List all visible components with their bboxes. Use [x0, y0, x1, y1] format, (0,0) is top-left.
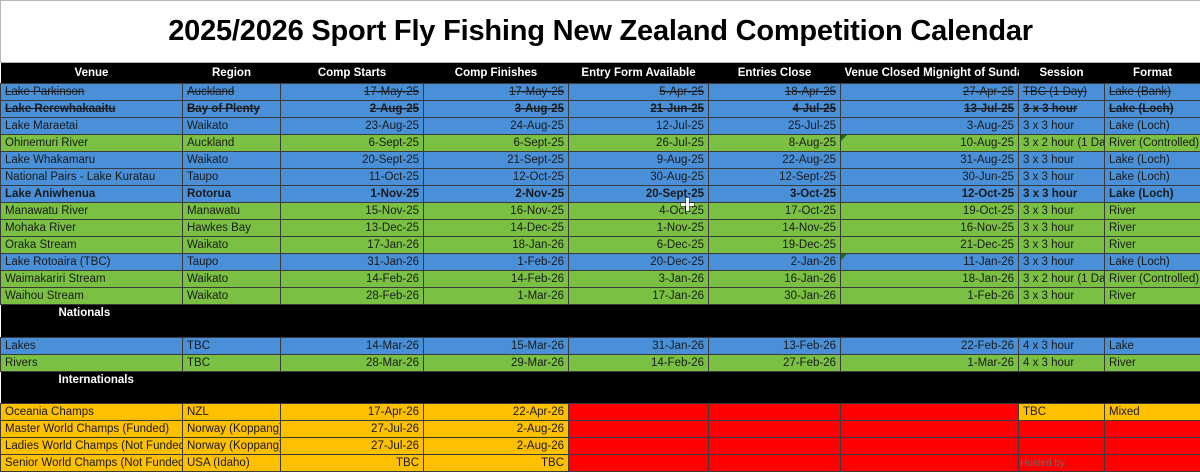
cell-text: 25-Jul-25	[788, 120, 836, 132]
table-cell[interactable]: Norway (Koppang)	[183, 421, 281, 438]
table-row[interactable]: Lake Rotoaira (TBC)Taupo31-Jan-261-Feb-2…	[1, 254, 1200, 271]
table-cell[interactable]: Lake Rotoaira (TBC)	[1, 254, 183, 271]
table-cell[interactable]	[1105, 421, 1200, 438]
table-cell[interactable]: 17-Apr-26	[281, 404, 424, 421]
table-cell[interactable]: 16-Nov-25	[424, 203, 569, 220]
table-cell[interactable]: 14-Dec-25	[424, 220, 569, 237]
cell-text: TBC	[1023, 406, 1046, 418]
table-cell[interactable]: 2-Aug-26	[424, 421, 569, 438]
table-cell[interactable]	[709, 404, 841, 421]
table-cell[interactable]: Waikato	[183, 271, 281, 288]
column-header[interactable]: Entry Form Available	[569, 63, 709, 84]
spacer-row	[1, 388, 1200, 404]
table-cell[interactable]: 19-Oct-25	[841, 203, 1019, 220]
cell-text: 3 x 3 hour	[1023, 256, 1074, 268]
cell-text: Rivers	[5, 357, 38, 369]
cell-text: Lake Aniwhenua	[5, 188, 95, 200]
cell-text: 3 x 2 hour (1 Day)	[1023, 273, 1105, 285]
cell-text: 30-Jan-26	[784, 290, 836, 302]
cell-text: TBC	[396, 457, 419, 469]
cell-text: Waihou Stream	[5, 290, 84, 302]
table-cell[interactable]: 1-Nov-25	[281, 186, 424, 203]
cell-note-indicator-icon	[841, 254, 847, 260]
table-row[interactable]: Waimakariri StreamWaikato14-Feb-2614-Feb…	[1, 271, 1200, 288]
table-cell[interactable]: 18-Jan-26	[424, 237, 569, 254]
table-cell[interactable]: 3 x 3 hour	[1019, 237, 1105, 254]
table-cell[interactable]: 31-Jan-26	[569, 337, 709, 354]
table-cell[interactable]: 23-Aug-25	[281, 118, 424, 135]
table-cell[interactable]: 28-Mar-26	[281, 354, 424, 371]
table-cell[interactable]	[709, 455, 841, 472]
table-cell[interactable]: 21-Dec-25	[841, 237, 1019, 254]
table-cell[interactable]: 22-Feb-26	[841, 337, 1019, 354]
cell-text: Mixed	[1109, 406, 1140, 418]
table-cell[interactable]	[569, 404, 709, 421]
cell-text: Lake Parkinson	[5, 86, 84, 98]
table-cell[interactable]: 17-May-25	[281, 84, 424, 101]
cell-text: 3 x 3 hour	[1023, 154, 1074, 166]
table-cell[interactable]: 2-Aug-26	[424, 438, 569, 455]
cell-text: 31-Aug-25	[960, 154, 1014, 166]
table-cell[interactable]: River (Controlled)	[1105, 135, 1200, 152]
cell-text: 3-Jan-26	[659, 273, 704, 285]
table-cell[interactable]: Lake (Loch)	[1105, 152, 1200, 169]
table-cell[interactable]: TBC	[424, 455, 569, 472]
column-header[interactable]: Venue Closed Mignight of Sunday	[841, 63, 1019, 84]
cell-text: 2-Nov-25	[515, 188, 564, 200]
table-cell[interactable]: Master World Champs (Funded)	[1, 421, 183, 438]
spreadsheet-canvas: 2025/2026 Sport Fly Fishing New Zealand …	[0, 0, 1200, 464]
cell-text: Waikato	[187, 239, 228, 251]
table-cell[interactable]: 3 x 3 hour	[1019, 101, 1105, 118]
table-cell[interactable]: 1-Mar-26	[424, 288, 569, 305]
table-cell[interactable]: 27-Feb-26	[709, 354, 841, 371]
table-cell[interactable]: 11-Jan-26	[841, 254, 1019, 271]
table-cell[interactable]	[569, 455, 709, 472]
table-cell[interactable]: 3-Aug-25	[841, 118, 1019, 135]
cell-text: River	[1109, 222, 1136, 234]
spacer-row	[1, 321, 1200, 337]
cell-text: Manawatu River	[5, 205, 88, 217]
table-cell[interactable]: 3 x 3 hour	[1019, 152, 1105, 169]
table-cell[interactable]: Mohaka River	[1, 220, 183, 237]
page-title: 2025/2026 Sport Fly Fishing New Zealand …	[1, 1, 1200, 63]
table-cell[interactable]: TBC (1 Day)	[1019, 84, 1105, 101]
table-cell[interactable]	[841, 421, 1019, 438]
table-row[interactable]: Master World Champs (Funded)Norway (Kopp…	[1, 421, 1200, 438]
table-cell[interactable]: 16-Jan-26	[709, 271, 841, 288]
table-cell[interactable]: 26-Jul-25	[569, 135, 709, 152]
table-cell[interactable]: 14-Nov-25	[709, 220, 841, 237]
table-cell[interactable]: 27-Apr-25	[841, 84, 1019, 101]
table-row[interactable]: Lake WhakamaruWaikato20-Sept-2521-Sept-2…	[1, 152, 1200, 169]
table-cell[interactable]: 17-May-25	[424, 84, 569, 101]
cell-text: 3 x 3 hour	[1023, 120, 1074, 132]
table-cell[interactable]	[841, 404, 1019, 421]
table-cell[interactable]: River	[1105, 237, 1200, 254]
table-cell[interactable]: 14-Feb-26	[569, 354, 709, 371]
cell-text: 17-Jan-26	[652, 290, 704, 302]
table-cell[interactable]: TBC	[281, 455, 424, 472]
table-cell[interactable]: 1-Feb-26	[424, 254, 569, 271]
cell-text: 20-Sept-25	[362, 154, 419, 166]
table-cell[interactable]	[841, 455, 1019, 472]
table-cell[interactable]: 14-Feb-26	[281, 271, 424, 288]
table-cell[interactable]: 31-Jan-26	[281, 254, 424, 271]
table-row[interactable]: Lake RerewhakaaituBay of Plenty2-Aug-253…	[1, 101, 1200, 118]
table-cell[interactable]: River	[1105, 203, 1200, 220]
table-cell[interactable]: Manawatu	[183, 203, 281, 220]
table-cell[interactable]: 20-Sept-25	[569, 186, 709, 203]
table-cell[interactable]: 27-Jul-26	[281, 421, 424, 438]
cell-text: 9-Aug-25	[657, 154, 704, 166]
table-cell[interactable]: 20-Dec-25	[569, 254, 709, 271]
table-cell[interactable]: Waikato	[183, 288, 281, 305]
table-cell[interactable]: 3 x 3 hour	[1019, 169, 1105, 186]
cell-text: River	[1109, 290, 1136, 302]
cell-text: Norway (Koppang)	[187, 440, 281, 452]
table-cell[interactable]: 31-Aug-25	[841, 152, 1019, 169]
column-header[interactable]: Region	[183, 63, 281, 84]
table-cell[interactable]: 3 x 2 hour (1 Day)	[1019, 271, 1105, 288]
cell-text: River (Controlled)	[1109, 273, 1199, 285]
cell-text: Lake (Loch)	[1109, 188, 1174, 200]
cell-text: 6-Sept-25	[368, 137, 419, 149]
table-cell[interactable]: 19-Dec-25	[709, 237, 841, 254]
cell-text: 19-Dec-25	[782, 239, 836, 251]
table-cell[interactable]: 3 x 3 hour	[1019, 288, 1105, 305]
table-cell[interactable]: 2-Nov-25	[424, 186, 569, 203]
table-cell[interactable]: 6-Dec-25	[569, 237, 709, 254]
cell-text: 3 x 3 hour	[1023, 222, 1074, 234]
table-cell[interactable]: 12-Jul-25	[569, 118, 709, 135]
cell-text: Ladies World Champs (Not Funded)	[5, 440, 183, 452]
cell-text: 1-Mar-26	[517, 290, 564, 302]
table-cell[interactable]: 6-Sept-25	[281, 135, 424, 152]
table-cell[interactable]: Lake Whakamaru	[1, 152, 183, 169]
cell-text: Auckland	[187, 137, 234, 149]
cell-text: Auckland	[187, 86, 234, 98]
column-header[interactable]: Entries Close	[709, 63, 841, 84]
table-cell[interactable]: 17-Jan-26	[569, 288, 709, 305]
table-cell[interactable]	[1105, 438, 1200, 455]
table-cell[interactable]: Lakes	[1, 337, 183, 354]
table-cell[interactable]: 13-Jul-25	[841, 101, 1019, 118]
table-cell[interactable]: 29-Mar-26	[424, 354, 569, 371]
cell-text: Lake Rotoaira (TBC)	[5, 256, 110, 268]
column-header[interactable]: Venue	[1, 63, 183, 84]
cell-text: 17-Jan-26	[367, 239, 419, 251]
table-row[interactable]: Ladies World Champs (Not Funded)Norway (…	[1, 438, 1200, 455]
table-cell[interactable]: 17-Jan-26	[281, 237, 424, 254]
table-cell[interactable]: Senior World Champs (Not Funded)	[1, 455, 183, 472]
table-cell[interactable]: Lake Parkinson	[1, 84, 183, 101]
table-cell[interactable]: 21-Jun-25	[569, 101, 709, 118]
section-band: Internationals	[1, 371, 1200, 388]
cell-text: 30-Aug-25	[650, 171, 704, 183]
table-cell[interactable]: 16-Nov-25	[841, 220, 1019, 237]
table-cell[interactable]: Auckland	[183, 135, 281, 152]
table-cell[interactable]: 2-Jan-26	[709, 254, 841, 271]
cell-text: 13-Feb-26	[783, 340, 836, 352]
table-cell[interactable]: National Pairs - Lake Kuratau	[1, 169, 183, 186]
table-cell[interactable]: Lake (Loch)	[1105, 118, 1200, 135]
table-cell[interactable]: 4 x 3 hour	[1019, 354, 1105, 371]
cell-text: 27-Feb-26	[783, 357, 836, 369]
cell-text: 14-Nov-25	[782, 222, 836, 234]
cell-text: 18-Jan-26	[962, 273, 1014, 285]
cell-text: 2-Aug-26	[517, 440, 564, 452]
cell-text: Lake (Loch)	[1109, 120, 1170, 132]
table-cell[interactable]: 15-Nov-25	[281, 203, 424, 220]
cell-text: River (Controlled)	[1109, 137, 1199, 149]
table-cell[interactable]: 27-Jul-26	[281, 438, 424, 455]
cell-text: 1-Feb-26	[967, 290, 1014, 302]
column-header[interactable]: Format	[1105, 63, 1200, 84]
cell-text: Lake Rerewhakaaitu	[5, 103, 116, 115]
cell-text: 14-Feb-26	[366, 273, 419, 285]
cell-text: 17-Oct-25	[785, 205, 836, 217]
table-cell[interactable]: 1-Nov-25	[569, 220, 709, 237]
cell-text: 20-Dec-25	[650, 256, 704, 268]
table-row[interactable]: Lake MaraetaiWaikato23-Aug-2524-Aug-2512…	[1, 118, 1200, 135]
table-cell[interactable]: NZL	[183, 404, 281, 421]
table-cell[interactable]: 17-Oct-25	[709, 203, 841, 220]
table-cell[interactable]: 3 x 3 hour	[1019, 203, 1105, 220]
table-cell[interactable]: 14-Mar-26	[281, 337, 424, 354]
table-cell[interactable]: Lake (Loch)	[1105, 169, 1200, 186]
table-cell[interactable]: Lake Maraetai	[1, 118, 183, 135]
table-cell[interactable]: 3 x 2 hour (1 Day)	[1019, 135, 1105, 152]
table-cell[interactable]: 21-Sept-25	[424, 152, 569, 169]
cell-text: 6-Sept-25	[513, 137, 564, 149]
table-cell[interactable]: 3-Aug-25	[424, 101, 569, 118]
table-cell[interactable]	[709, 421, 841, 438]
table-cell[interactable]: 22-Apr-26	[424, 404, 569, 421]
table-cell[interactable]: Rivers	[1, 354, 183, 371]
table-cell[interactable]: 25-Jul-25	[709, 118, 841, 135]
table-cell[interactable]: Ladies World Champs (Not Funded)	[1, 438, 183, 455]
table-cell[interactable]: 12-Oct-25	[841, 186, 1019, 203]
cell-text: 12-Sept-25	[779, 171, 836, 183]
table-cell[interactable]	[569, 438, 709, 455]
cell-text: USA (Idaho)	[187, 457, 250, 469]
table-row[interactable]: Ohinemuri RiverAuckland6-Sept-256-Sept-2…	[1, 135, 1200, 152]
table-cell[interactable]	[1019, 421, 1105, 438]
section-band-label: Nationals	[1, 305, 1200, 322]
cell-text: 14-Dec-25	[510, 222, 564, 234]
column-header[interactable]: Session	[1019, 63, 1105, 84]
table-cell[interactable]: Lake (Loch)	[1105, 186, 1200, 203]
table-cell[interactable]: TBC	[183, 354, 281, 371]
cell-text: Lake (Loch)	[1109, 256, 1170, 268]
table-cell[interactable]: 3 x 3 hour	[1019, 186, 1105, 203]
table-cell[interactable]: 8-Aug-25	[709, 135, 841, 152]
table-cell[interactable]: TBC	[1019, 404, 1105, 421]
cell-text: Lake Maraetai	[5, 120, 78, 132]
table-cell[interactable]: 15-Mar-26	[424, 337, 569, 354]
table-row[interactable]: Lake ParkinsonAuckland17-May-2517-May-25…	[1, 84, 1200, 101]
table-cell[interactable]: Waikato	[183, 237, 281, 254]
cell-note-indicator-icon	[841, 135, 847, 141]
table-cell[interactable]: Norway (Koppang)	[183, 438, 281, 455]
table-cell[interactable]: 3-Jan-26	[569, 271, 709, 288]
cell-text: Oceania Champs	[5, 406, 94, 418]
table-cell[interactable]: 10-Aug-25	[841, 135, 1019, 152]
table-cell[interactable]	[569, 421, 709, 438]
table-cell[interactable]: Waikato	[183, 152, 281, 169]
table-cell[interactable]: TBC	[183, 337, 281, 354]
table-cell[interactable]: 20-Sept-25	[281, 152, 424, 169]
cell-text: 16-Jan-26	[784, 273, 836, 285]
cell-text: 14-Feb-26	[511, 273, 564, 285]
cell-text: 23-Aug-25	[365, 120, 419, 132]
cell-text: 2-Aug-26	[517, 423, 564, 435]
table-cell[interactable]: 3-Oct-25	[709, 186, 841, 203]
table-cell[interactable]: 4 x 3 hour	[1019, 337, 1105, 354]
table-cell[interactable]: Rotorua	[183, 186, 281, 203]
cell-text: 4-Oct-25	[659, 205, 704, 217]
table-cell[interactable]: 3 x 3 hour	[1019, 254, 1105, 271]
cell-text: 31-Jan-26	[367, 256, 419, 268]
table-row[interactable]: Oraka StreamWaikato17-Jan-2618-Jan-266-D…	[1, 237, 1200, 254]
cell-text: 3 x 2 hour (1 Day)	[1023, 137, 1105, 149]
table-cell[interactable]: Taupo	[183, 254, 281, 271]
table-cell[interactable]: 4-Jul-25	[709, 101, 841, 118]
table-cell[interactable]: Waikato	[183, 118, 281, 135]
cell-text: 22-Aug-25	[782, 154, 836, 166]
cell-text: 10-Aug-25	[960, 137, 1014, 149]
table-cell[interactable]: Lake (Loch)	[1105, 254, 1200, 271]
cell-text: Oraka Stream	[5, 239, 77, 251]
table-cell[interactable]: Waimakariri Stream	[1, 271, 183, 288]
table-cell[interactable]: Lake	[1105, 337, 1200, 354]
column-header[interactable]: Comp Starts	[281, 63, 424, 84]
cell-text: 27-Jul-26	[371, 440, 419, 452]
cell-text: 4-Jul-25	[793, 103, 836, 115]
table-cell[interactable]: 5-Apr-25	[569, 84, 709, 101]
table-cell[interactable]: River	[1105, 354, 1200, 371]
spacer-cell	[1, 321, 1200, 337]
table-cell[interactable]: Lake Rerewhakaaitu	[1, 101, 183, 118]
table-cell[interactable]: 13-Dec-25	[281, 220, 424, 237]
table-cell[interactable]: USA (Idaho)	[183, 455, 281, 472]
table-cell[interactable]: Ohinemuri River	[1, 135, 183, 152]
cell-text: 12-Oct-25	[962, 188, 1014, 200]
cell-text: 16-Nov-25	[960, 222, 1014, 234]
section-band-label: Internationals	[1, 371, 1200, 388]
competition-calendar-table: 2025/2026 Sport Fly Fishing New Zealand …	[0, 0, 1200, 472]
table-cell[interactable]	[841, 438, 1019, 455]
cell-text: National Pairs - Lake Kuratau	[5, 171, 155, 183]
table-row[interactable]: RiversTBC28-Mar-2629-Mar-2614-Feb-2627-F…	[1, 354, 1200, 371]
cell-text: 4 x 3 hour	[1023, 340, 1074, 352]
table-row[interactable]: Mohaka RiverHawkes Bay13-Dec-2514-Dec-25…	[1, 220, 1200, 237]
cell-text: 19-Oct-25	[963, 205, 1014, 217]
table-cell[interactable]: Bay of Plenty	[183, 101, 281, 118]
table-cell[interactable]: 12-Sept-25	[709, 169, 841, 186]
table-cell[interactable]: Oraka Stream	[1, 237, 183, 254]
table-cell[interactable]: Lake Aniwhenua	[1, 186, 183, 203]
cell-text: 21-Jun-25	[650, 103, 704, 115]
cell-text: 11-Oct-25	[369, 171, 419, 183]
cell-text: Waikato	[187, 154, 228, 166]
table-cell[interactable]: 30-Jan-26	[709, 288, 841, 305]
cell-text: Waikato	[187, 273, 228, 285]
table-cell[interactable]: Hawkes Bay	[183, 220, 281, 237]
table-cell[interactable]: River (Controlled)	[1105, 271, 1200, 288]
table-cell[interactable]: 1-Feb-26	[841, 288, 1019, 305]
table-cell[interactable]: 3 x 3 hour	[1019, 220, 1105, 237]
table-cell[interactable]: 3 x 3 hour	[1019, 118, 1105, 135]
table-cell[interactable]: 24-Aug-25	[424, 118, 569, 135]
table-row[interactable]: Waihou StreamWaikato28-Feb-261-Mar-2617-…	[1, 288, 1200, 305]
cell-text: TBC	[187, 340, 210, 352]
table-row[interactable]: Manawatu RiverManawatu15-Nov-2516-Nov-25…	[1, 203, 1200, 220]
table-cell[interactable]: Lake (Bank)	[1105, 84, 1200, 101]
cell-text: Bay of Plenty	[187, 103, 260, 115]
table-cell[interactable]: Waihou Stream	[1, 288, 183, 305]
cell-text: 3-Aug-25	[967, 120, 1014, 132]
cell-text: 3 x 3 hour	[1023, 188, 1077, 200]
cell-text: 1-Feb-26	[517, 256, 564, 268]
table-cell[interactable]: River	[1105, 288, 1200, 305]
table-cell[interactable]: 22-Aug-25	[709, 152, 841, 169]
table-cell[interactable]: 12-Oct-25	[424, 169, 569, 186]
cell-text: 4 x 3 hour	[1023, 357, 1074, 369]
table-cell[interactable]: 13-Feb-26	[709, 337, 841, 354]
table-cell[interactable]: Manawatu River	[1, 203, 183, 220]
table-cell[interactable]: 18-Jan-26	[841, 271, 1019, 288]
cell-text: Lake (Loch)	[1109, 171, 1170, 183]
table-cell[interactable]: 30-Aug-25	[569, 169, 709, 186]
cell-text: 12-Jul-25	[656, 120, 704, 132]
table-cell[interactable]: 11-Oct-25	[281, 169, 424, 186]
table-cell[interactable]: Oceania Champs	[1, 404, 183, 421]
table-cell[interactable]: 2-Aug-25	[281, 101, 424, 118]
cell-text: 5-Apr-25	[659, 86, 704, 98]
column-header[interactable]: Comp Finishes	[424, 63, 569, 84]
table-cell[interactable]: Lake (Loch)	[1105, 101, 1200, 118]
table-row[interactable]: Oceania ChampsNZL17-Apr-2622-Apr-26TBCMi…	[1, 404, 1200, 421]
table-cell[interactable]: 6-Sept-25	[424, 135, 569, 152]
table-cell[interactable]: River	[1105, 220, 1200, 237]
table-cell[interactable]: 9-Aug-25	[569, 152, 709, 169]
table-cell[interactable]: 14-Feb-26	[424, 271, 569, 288]
table-cell[interactable]: 28-Feb-26	[281, 288, 424, 305]
cell-text: 16-Nov-25	[510, 205, 564, 217]
table-cell[interactable]: 30-Jun-25	[841, 169, 1019, 186]
cell-text: 14-Mar-26	[366, 340, 419, 352]
cell-text: 2-Jan-26	[791, 256, 836, 268]
cell-text: River	[1109, 357, 1136, 369]
table-row[interactable]: LakesTBC14-Mar-2615-Mar-2631-Jan-2613-Fe…	[1, 337, 1200, 354]
table-cell[interactable]: Taupo	[183, 169, 281, 186]
table-cell[interactable]: 18-Apr-25	[709, 84, 841, 101]
table-cell[interactable]: Mixed	[1105, 404, 1200, 421]
table-cell[interactable]	[709, 438, 841, 455]
table-cell[interactable]: Auckland	[183, 84, 281, 101]
table-cell[interactable]	[1019, 438, 1105, 455]
table-row[interactable]: Lake AniwhenuaRotorua1-Nov-252-Nov-2520-…	[1, 186, 1200, 203]
cell-text: 22-Apr-26	[513, 406, 564, 418]
table-cell[interactable]: 4-Oct-25	[569, 203, 709, 220]
table-row[interactable]: National Pairs - Lake KuratauTaupo11-Oct…	[1, 169, 1200, 186]
cell-text: 8-Aug-25	[789, 137, 836, 149]
table-cell[interactable]: 1-Mar-26	[841, 354, 1019, 371]
cell-text: 28-Mar-26	[366, 357, 419, 369]
cell-text: 3-Aug-25	[515, 103, 564, 115]
